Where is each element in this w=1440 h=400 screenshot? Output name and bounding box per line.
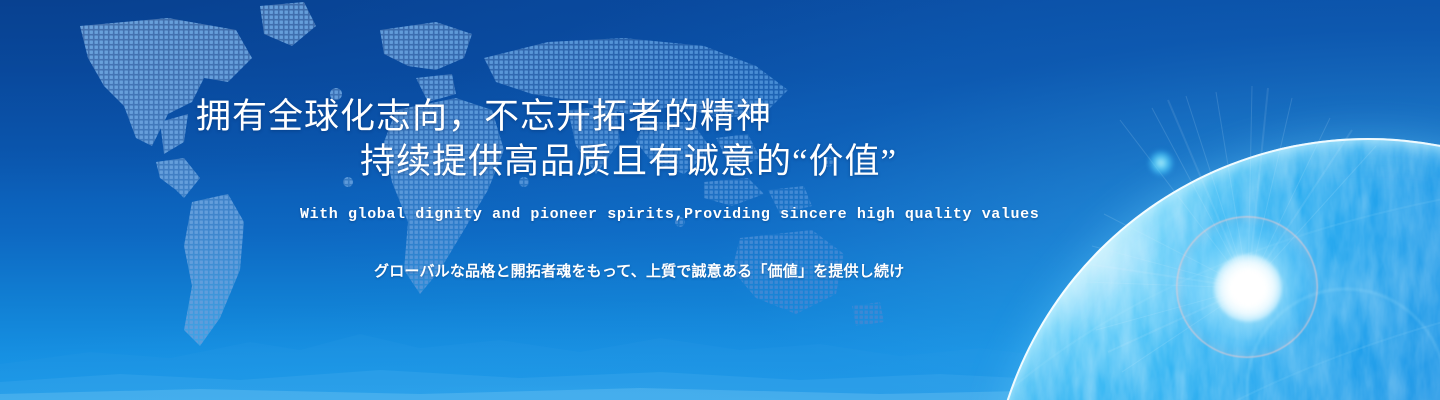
headline-line-1: 拥有全球化志向，不忘开拓者的精神 xyxy=(196,88,772,139)
banner-copy: 拥有全球化志向，不忘开拓者的精神 持续提供高品质且有诚意的“价值” With g… xyxy=(0,0,1000,400)
sun-core xyxy=(1214,254,1282,322)
subtitle-english: With global dignity and pioneer spirits,… xyxy=(300,206,1039,223)
hero-banner: 拥有全球化志向，不忘开拓者的精神 持续提供高品质且有诚意的“价值” With g… xyxy=(0,0,1440,400)
lens-flare-dot-icon xyxy=(1148,150,1174,176)
subtitle-japanese: グローバルな品格と開拓者魂をもって、上質で誠意ある「価値」を提供し続け xyxy=(374,260,904,281)
headline-line-2: 持续提供高品质且有诚意的“价值” xyxy=(360,133,897,184)
